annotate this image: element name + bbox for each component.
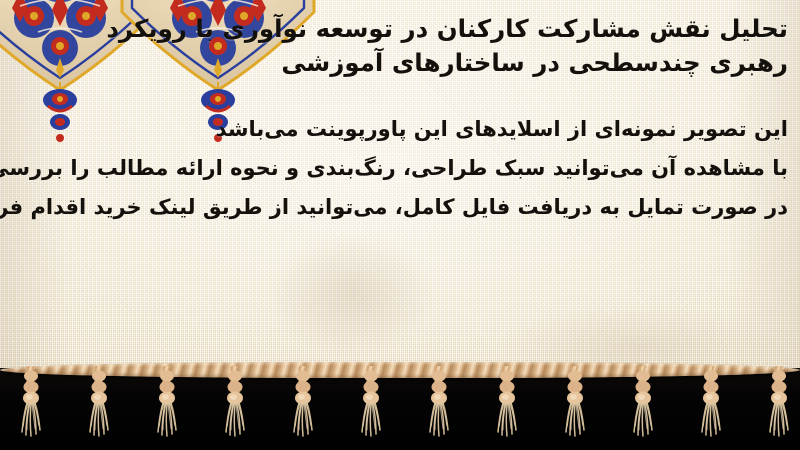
body-line-1: این تصویر نمونه‌ای از اسلایدهای این پاور… (10, 110, 788, 149)
slide-canvas: تحلیل نقش مشارکت کارکنان در توسعه نوآوری… (0, 0, 800, 450)
black-border-band (0, 368, 800, 450)
twisted-cord (0, 362, 800, 378)
body-line-2: با مشاهده آن می‌توانید سبک طراحی، رنگ‌بن… (10, 149, 788, 188)
title-line-2: رهبری چندسطحی در ساختارهای آموزشی (10, 46, 788, 80)
title-line-1: تحلیل نقش مشارکت کارکنان در توسعه نوآوری… (10, 12, 788, 46)
slide-body: این تصویر نمونه‌ای از اسلایدهای این پاور… (10, 110, 788, 227)
body-line-3: در صورت تمایل به دریافت فایل کامل، می‌تو… (10, 188, 788, 227)
slide-title: تحلیل نقش مشارکت کارکنان در توسعه نوآوری… (10, 12, 788, 80)
